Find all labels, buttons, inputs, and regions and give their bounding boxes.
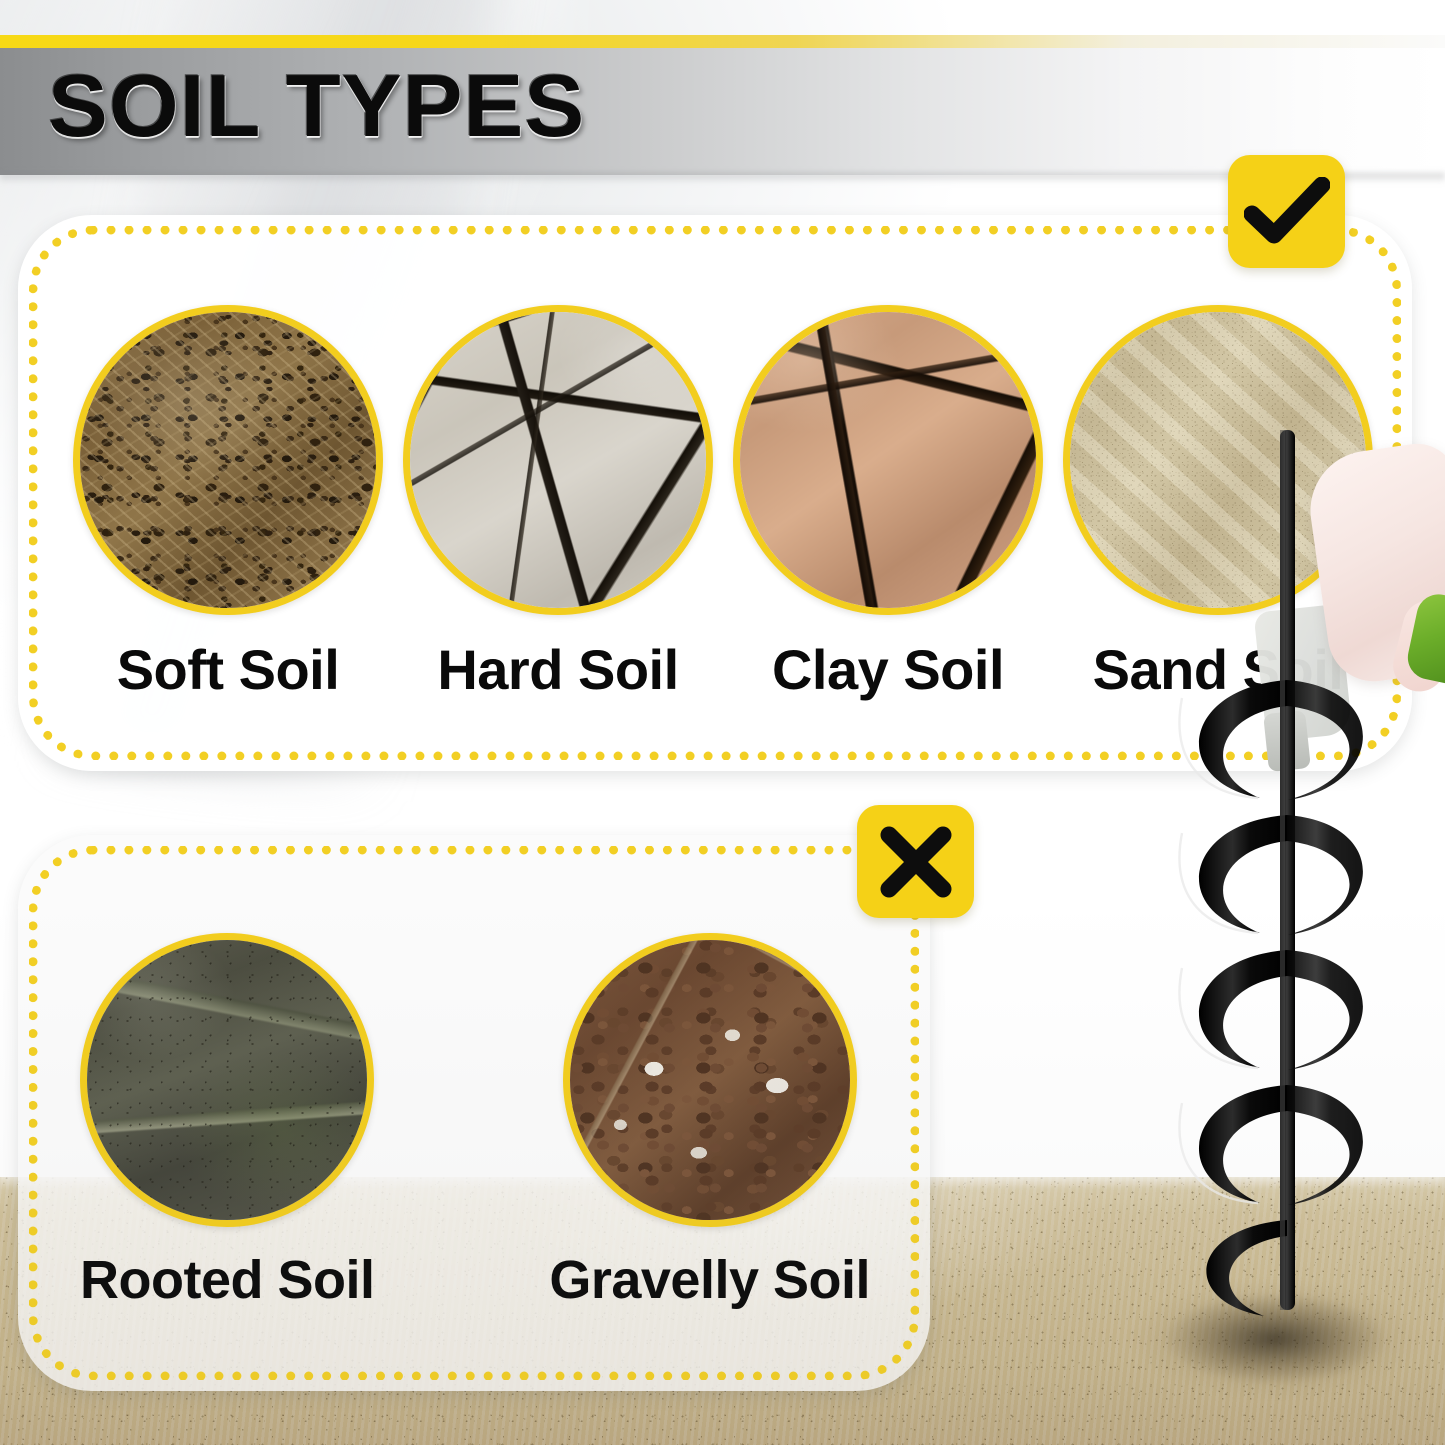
check-badge (1228, 155, 1345, 268)
x-icon (879, 825, 953, 899)
spiral-auger-drill-bit (1140, 430, 1445, 1330)
x-badge (857, 805, 974, 918)
check-icon (1244, 177, 1330, 247)
infographic-stage: Soft Soil Hard Soil Clay Soil Sand Soil (0, 0, 1445, 1445)
